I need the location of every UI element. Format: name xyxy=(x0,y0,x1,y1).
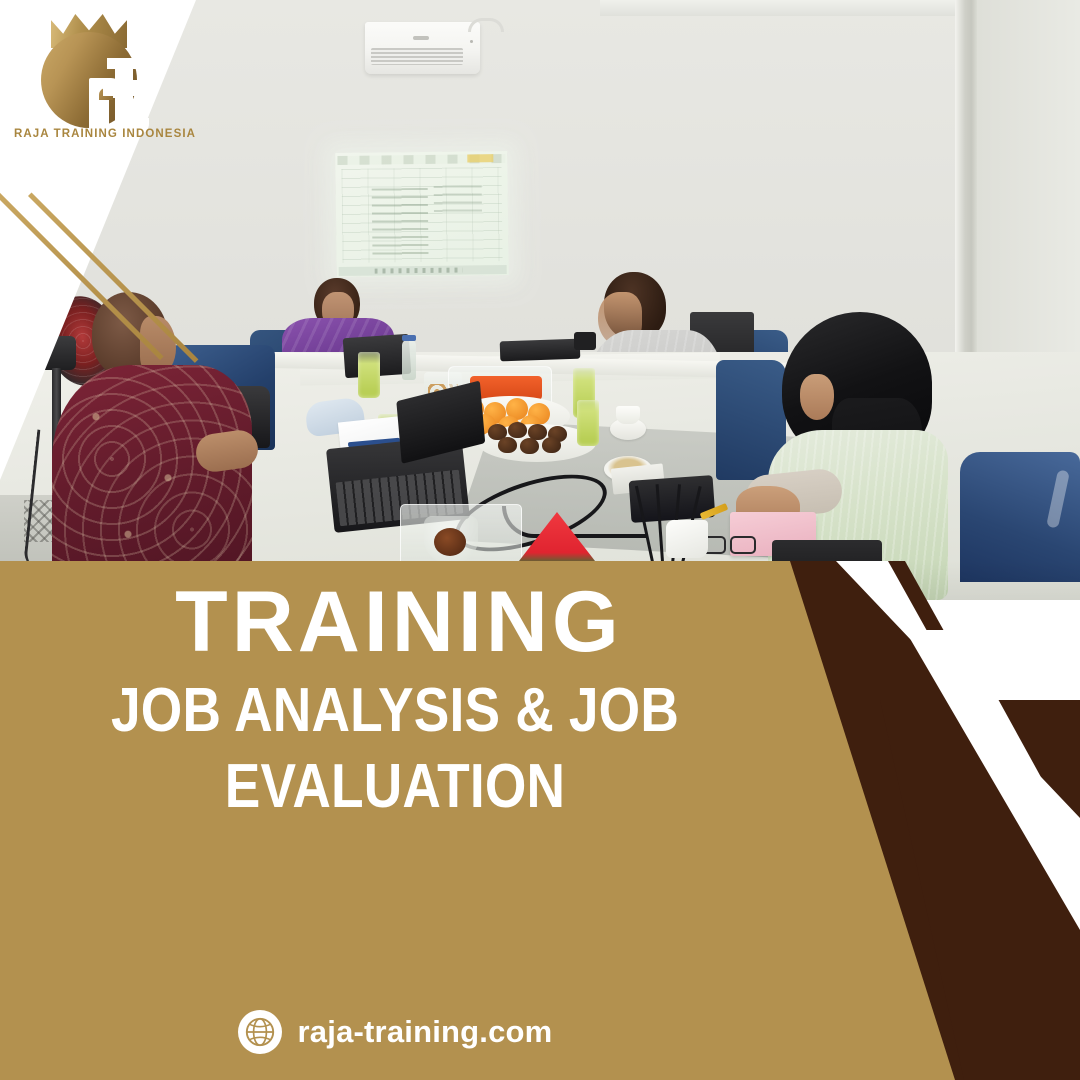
eyeglasses-icon xyxy=(700,534,756,554)
chocolate-bowl xyxy=(424,516,478,564)
page-subtitle: JOB ANALYSIS & JOB EVALUATION xyxy=(55,673,734,824)
chair-highlight xyxy=(1046,469,1070,528)
ac-indicator-led xyxy=(470,40,473,43)
green-drink-glass xyxy=(358,352,380,398)
water-bottle xyxy=(402,340,416,380)
ac-pipe xyxy=(468,18,504,32)
projection-text-block-2 xyxy=(434,185,482,216)
person-face xyxy=(800,374,834,420)
date-fruit xyxy=(498,437,517,453)
projection-taskbar xyxy=(339,265,507,276)
tissue xyxy=(666,520,708,558)
logo-letter-t-top xyxy=(107,58,137,69)
website-url[interactable]: raja-training.com xyxy=(298,1014,553,1050)
date-fruit xyxy=(508,422,527,438)
date-fruit xyxy=(542,437,561,453)
date-fruit xyxy=(520,438,539,454)
circle-emblem-icon xyxy=(41,32,137,128)
green-drink-glass xyxy=(577,400,599,446)
training-poster: RAJA TRAINING INDONESIA TRAINING JOB ANA… xyxy=(0,0,1080,1080)
power-strip xyxy=(500,339,581,362)
footer: raja-training.com xyxy=(0,1010,790,1054)
power-plug xyxy=(574,332,596,350)
coffee-cup xyxy=(616,406,640,424)
ac-brand-mark xyxy=(413,36,429,40)
projected-spreadsheet xyxy=(335,151,509,277)
projection-text-block xyxy=(372,188,429,259)
projection-highlight-cell xyxy=(467,154,493,162)
wall-corner-pillar xyxy=(955,0,977,370)
globe-icon xyxy=(238,1010,282,1054)
brand-name-text: RAJA TRAINING INDONESIA xyxy=(14,128,166,140)
bottle-cap xyxy=(402,335,416,341)
brand-logo: RAJA TRAINING INDONESIA xyxy=(14,14,164,142)
wall-right-panel xyxy=(977,0,1080,375)
ac-vent xyxy=(371,48,463,65)
air-conditioner-icon xyxy=(365,22,480,74)
title-block: TRAINING JOB ANALYSIS & JOB EVALUATION xyxy=(0,566,790,824)
page-title: TRAINING xyxy=(0,576,790,669)
logo-letter-t-bar xyxy=(103,80,151,96)
